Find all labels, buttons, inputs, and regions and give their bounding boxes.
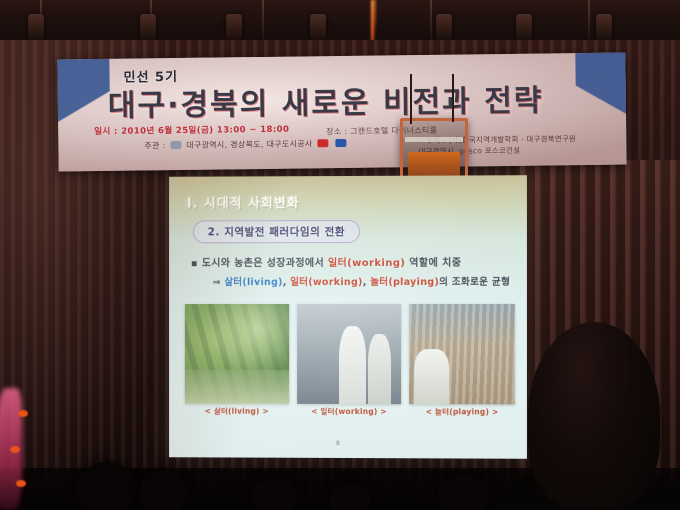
audience-head-silhouette	[78, 462, 136, 510]
green-park-trees-photo	[185, 304, 289, 404]
audience-head-silhouette	[140, 470, 186, 510]
bullet-2-playing: 놀터(playing)	[370, 277, 439, 288]
flower-petal	[16, 480, 26, 487]
stage-lamp	[28, 14, 44, 40]
event-banner: 민선 5기 대구·경북의 새로운 비전과 전략 일시 : 2010년 6월 25…	[57, 53, 626, 172]
stage-lamp	[226, 14, 242, 40]
conference-hall-photo: 민선 5기 대구·경북의 새로운 비전과 전략 일시 : 2010년 6월 25…	[0, 0, 680, 510]
caption-working: < 일터(working) >	[297, 406, 402, 417]
slide-bullet-2: ⇒ 살터(living), 일터(working), 놀터(playing)의 …	[213, 274, 513, 288]
bullet-marker: ▪	[191, 258, 198, 269]
banner-title: 대구·경북의 새로운 비전과 전략	[108, 75, 609, 125]
stage-lamp	[310, 14, 326, 40]
flower-petal	[18, 410, 28, 417]
audience-head-silhouette	[330, 484, 370, 510]
slide-title: Ⅰ. 시대적 사회변화	[187, 192, 300, 211]
bullet-1-highlight: 일터(working)	[328, 258, 405, 269]
projection-screen: Ⅰ. 시대적 사회변화 2. 지역발전 패러다임의 전환 ▪ 도시와 농촌은 성…	[169, 175, 527, 459]
bullet-1-pre: 도시와 농촌은 성장과정에서	[202, 258, 328, 269]
stage-lamp	[140, 14, 156, 40]
slide-section-heading: 2. 지역발전 패러다임의 전환	[193, 220, 360, 243]
caption-living: < 살터(living) >	[185, 406, 289, 417]
rig-cable	[410, 74, 412, 124]
light-streak	[374, 0, 376, 34]
sponsor-logo-icon	[317, 139, 328, 147]
sponsor-logo-icon	[335, 139, 346, 147]
rig-crossbar	[405, 137, 463, 142]
stage-lamp	[436, 14, 452, 40]
rig-cable	[452, 74, 454, 122]
slide-page-number: 8	[336, 440, 340, 447]
bullet-1-post: 역할에 치중	[405, 258, 461, 269]
banner-host-label: 주관 :	[144, 141, 165, 150]
slide-caption-row: < 살터(living) > < 일터(working) > < 놀터(play…	[185, 406, 515, 418]
rig-equipment-box	[408, 152, 460, 176]
audience-head-silhouette	[252, 478, 296, 510]
slide-photo-row	[185, 304, 515, 405]
banner-corner-decor	[57, 55, 110, 172]
bullet-2-working: 일터(working)	[290, 277, 362, 288]
flower-petal	[10, 446, 20, 453]
banner-host-list: 대구광역시, 경상북도, 대구도시공사	[186, 139, 312, 150]
arrow-icon: ⇒	[213, 277, 221, 288]
floral-decoration	[0, 388, 40, 510]
foreground-person-head	[528, 322, 660, 510]
bullet-2-tail: 의 조화로운 균형	[439, 277, 510, 288]
banner-host-row: 주관 : 대구광역시, 경상북도, 대구도시공사	[144, 138, 348, 151]
slide-bullet-1: ▪ 도시와 농촌은 성장과정에서 일터(working) 역할에 치중	[191, 254, 511, 270]
people-working-white-coats-photo	[297, 304, 402, 404]
sponsor-logo-icon	[170, 141, 181, 149]
stage-lamp	[596, 14, 612, 40]
outdoor-crowd-festival-photo	[409, 304, 514, 405]
stage-lamp	[516, 14, 532, 40]
audience-head-silhouette	[438, 474, 488, 510]
banner-date: 일시 : 2010년 6월 25일(금) 13:00 ~ 18:00	[94, 123, 289, 137]
bullet-2-living: 살터(living)	[224, 277, 282, 288]
caption-playing: < 놀터(playing) >	[409, 406, 514, 417]
